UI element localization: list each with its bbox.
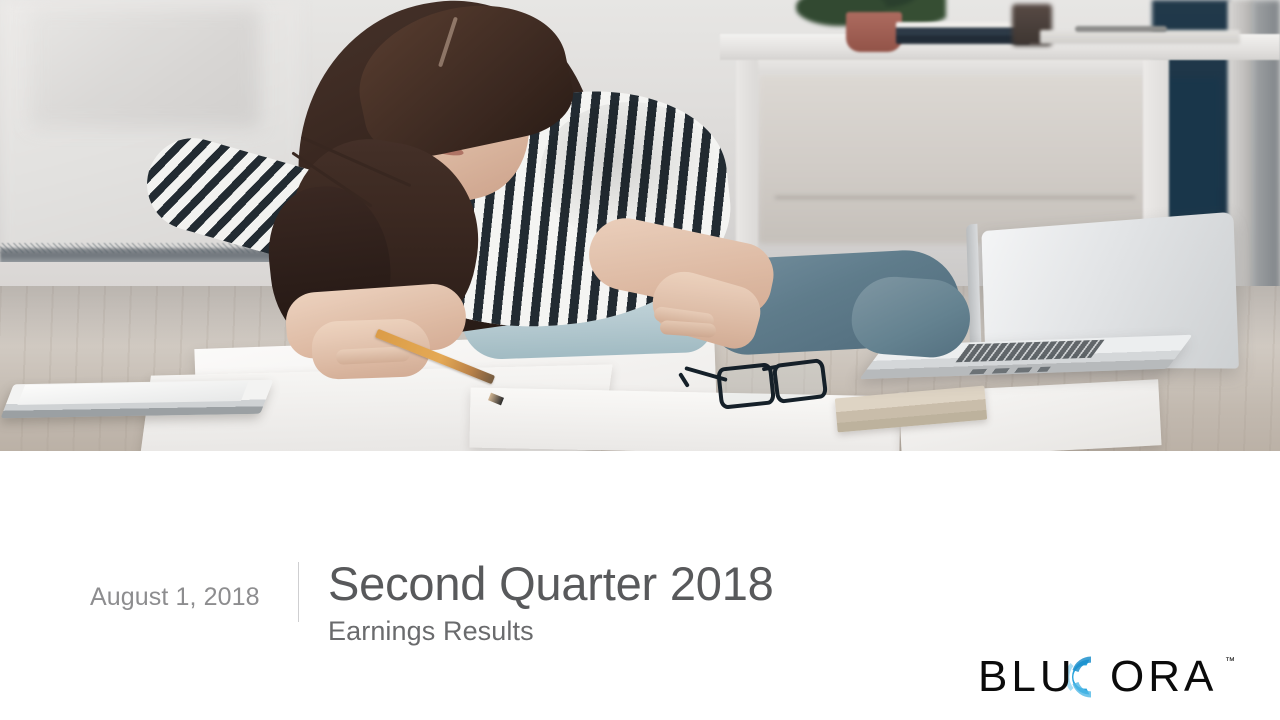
person-woman [240, 0, 960, 412]
page-subtitle: Earnings Results [328, 614, 1088, 648]
tablet-screen [17, 381, 248, 405]
vertical-divider [298, 562, 299, 622]
jeans-knee [849, 274, 972, 360]
desk-tray [1040, 30, 1240, 44]
wall-art-blurred [30, 8, 260, 128]
presentation-date: August 1, 2018 [90, 580, 280, 614]
hero-scene [0, 0, 1280, 451]
hero-image [0, 0, 1280, 451]
title-block: Second Quarter 2018 Earnings Results [328, 556, 1088, 648]
blucora-wordmark-prefix: BLU [978, 652, 1076, 701]
trademark-symbol: ™ [1225, 656, 1235, 667]
page-title: Second Quarter 2018 [328, 556, 1088, 612]
blucora-logo-svg: BLU C ORA ™ [978, 650, 1240, 702]
blucora-wordmark-suffix: ORA [1110, 652, 1217, 701]
title-slide: August 1, 2018 Second Quarter 2018 Earni… [0, 0, 1280, 720]
desk-pen [1075, 26, 1167, 32]
blucora-wordmark-c-placeholder: C [1074, 652, 1110, 701]
blucora-logo: BLU C ORA ™ [978, 650, 1240, 702]
